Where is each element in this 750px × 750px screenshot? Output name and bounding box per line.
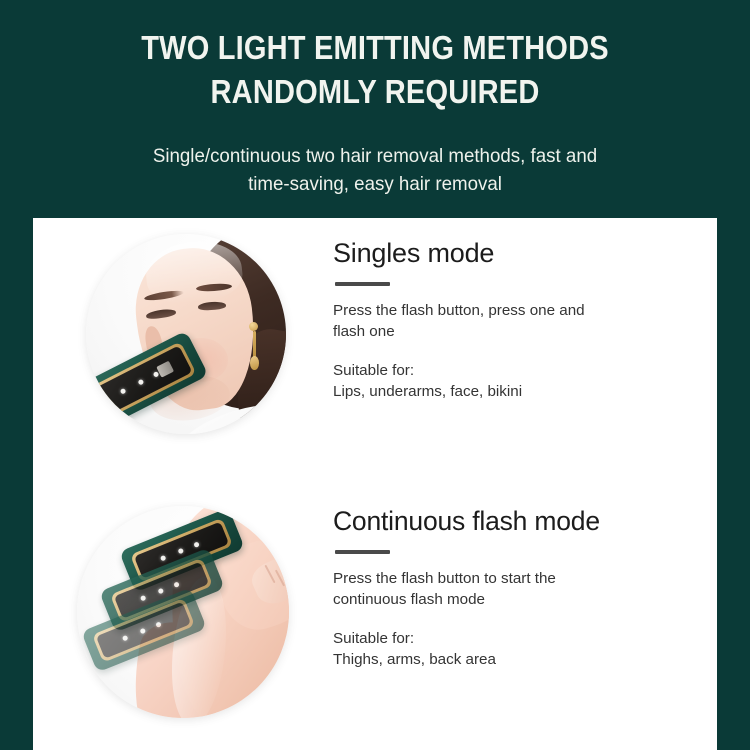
indicator-dot-icon [140,594,147,601]
continuous-mode-photo [77,506,289,718]
content-card: Singles mode Press the flash button, pre… [33,218,717,750]
device-level-bar [156,361,174,378]
indicator-dot-icon [139,627,146,634]
indicator-dot-icon [157,587,164,594]
singles-mode-title: Singles mode [333,238,717,269]
singles-mode-description: Press the flash button, press one and fl… [333,300,601,343]
suitable-label: Suitable for: [333,628,633,650]
indicator-dot-icon [193,541,200,548]
indicator-dot-icon [155,621,162,628]
devices-with-leg-image [77,506,289,718]
page-title-line-2: RANDOMLY REQUIRED [93,70,656,114]
suitable-value: Lips, underarms, face, bikini [333,381,601,403]
continuous-mode-suitable: Suitable for: Thighs, arms, back area [333,628,633,671]
singles-mode-suitable: Suitable for: Lips, underarms, face, bik… [333,360,601,403]
singles-mode-copy: Singles mode Press the flash button, pre… [333,218,717,484]
earring-bead [250,356,259,370]
page-subtitle-line-1: Single/continuous two hair removal metho… [77,142,672,170]
earring-drop [253,331,256,359]
page-title: TWO LIGHT EMITTING METHODS RANDOMLY REQU… [93,26,656,114]
title-divider [335,282,390,286]
title-divider [335,550,390,554]
suitable-label: Suitable for: [333,360,601,382]
indicator-dot-icon [173,581,180,588]
indicator-dot-icon [122,634,129,641]
continuous-mode-title: Continuous flash mode [333,506,717,537]
earring-stud [249,322,258,331]
header-banner: TWO LIGHT EMITTING METHODS RANDOMLY REQU… [0,0,750,218]
indicator-dot-icon [177,547,184,554]
page-subtitle: Single/continuous two hair removal metho… [77,142,672,199]
singles-mode-photo [86,234,286,434]
singles-mode-media [33,218,333,484]
suitable-value: Thighs, arms, back area [333,649,633,671]
indicator-dot-icon [119,388,126,395]
page-subtitle-line-2: time-saving, easy hair removal [77,170,672,198]
section-singles-mode: Singles mode Press the flash button, pre… [33,218,717,484]
page-title-line-1: TWO LIGHT EMITTING METHODS [93,26,656,70]
indicator-dot-icon [160,554,167,561]
section-continuous-flash-mode: Continuous flash mode Press the flash bu… [33,484,717,750]
indicator-dot-icon [137,379,144,386]
continuous-mode-media [33,484,333,750]
right-green-border [717,218,750,750]
continuous-mode-copy: Continuous flash mode Press the flash bu… [333,484,717,750]
left-green-border [0,218,33,750]
continuous-mode-description: Press the flash button to start the cont… [333,568,633,611]
woman-with-device-image [86,234,286,434]
